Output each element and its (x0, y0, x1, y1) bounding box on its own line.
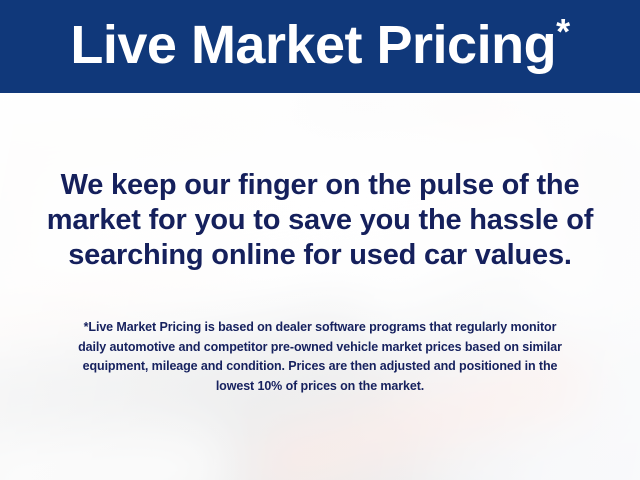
disclaimer-line-4: lowest 10% of prices on the market. (20, 377, 620, 397)
disclaimer-line-2: daily automotive and competitor pre-owne… (20, 338, 620, 358)
page-title-text: Live Market Pricing (70, 15, 556, 75)
headline-line-2: market for you to save you the hassle of (0, 203, 640, 238)
headline-line-3: searching online for used car values. (0, 238, 640, 273)
page-title: Live Market Pricing* (70, 18, 569, 76)
header-bar: Live Market Pricing* (0, 0, 640, 93)
page-title-asterisk: * (556, 11, 570, 52)
disclaimer-text: *Live Market Pricing is based on dealer … (20, 318, 620, 396)
disclaimer-line-1: *Live Market Pricing is based on dealer … (20, 318, 620, 338)
disclaimer-line-3: equipment, mileage and condition. Prices… (20, 357, 620, 377)
live-market-pricing-banner: Live Market Pricing* We keep our finger … (0, 0, 640, 480)
headline: We keep our finger on the pulse of the m… (0, 168, 640, 273)
headline-line-1: We keep our finger on the pulse of the (0, 168, 640, 203)
